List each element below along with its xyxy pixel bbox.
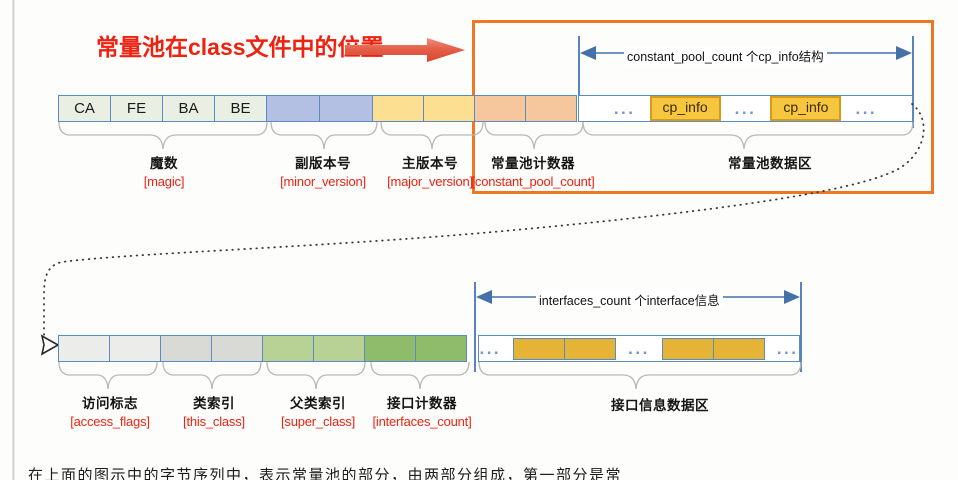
row1-braces (55, 122, 935, 156)
cell-this-class-1 (160, 335, 212, 362)
label-minor-version-cn: 副版本号 (268, 152, 378, 172)
row1-byte-strip: CA FE BA BE (58, 95, 577, 122)
label-access-flags: 访问标志 [access_flags] (55, 392, 165, 429)
ellipsis-dots: ... (479, 340, 501, 357)
label-interface-data: 接口信息数据区 (580, 394, 740, 414)
cp-info-chip-1: cp_info (650, 96, 721, 120)
label-constant-pool-count: 常量池计数器 [constant_pool_count] (470, 152, 596, 189)
cell-major-version-2 (423, 95, 475, 122)
page-gutter-line (12, 0, 15, 480)
row2-braces (55, 362, 815, 396)
ellipsis-dots: ... (735, 100, 757, 117)
ellipsis-dots: ... (614, 100, 636, 117)
cell-access-flags-2 (109, 335, 161, 362)
iface-dim-guide-right (800, 282, 802, 372)
cell-magic-ba: BA (162, 95, 215, 122)
label-interfaces-count: 接口计数器 [interfaces_count] (362, 392, 482, 429)
bottom-body-text: 在上面的图示中的字节序列中，表示常量池的部分，由两部分组成，第一部分是常 (28, 464, 622, 480)
label-magic-en: [magic] (109, 174, 219, 189)
label-constant-pool-count-en: [constant_pool_count] (470, 174, 596, 189)
diagram-canvas: 常量池在class文件中的位置 constant_pool_count 个cp_… (0, 0, 958, 480)
cell-minor-version-1 (266, 95, 320, 122)
cell-super-class-2 (313, 335, 365, 362)
label-interfaces-count-en: [interfaces_count] (362, 414, 482, 429)
cell-major-version-1 (372, 95, 424, 122)
label-minor-version: 副版本号 [minor_version] (268, 152, 378, 189)
label-magic-cn: 魔数 (109, 152, 219, 172)
interface-entry-1 (513, 338, 616, 360)
label-constant-pool-data: 常量池数据区 (690, 152, 850, 172)
cell-super-class-1 (262, 335, 314, 362)
label-constant-pool-data-cn: 常量池数据区 (690, 152, 850, 172)
ellipsis-dots: ... (855, 100, 877, 117)
ellipsis-dots: ... (628, 340, 650, 357)
label-access-flags-en: [access_flags] (55, 414, 165, 429)
cell-constant-pool-count-2 (525, 95, 577, 122)
iface-dimension-label: interfaces_count 个interface信息 (536, 290, 723, 309)
cell-constant-pool-count-1 (474, 95, 526, 122)
page-title: 常量池在class文件中的位置 (96, 28, 384, 62)
cell-minor-version-2 (319, 95, 373, 122)
label-this-class: 类索引 [this_class] (159, 392, 269, 429)
cell-magic-be: BE (214, 95, 267, 122)
cell-magic-ca: CA (58, 95, 111, 122)
cell-magic-fe: FE (110, 95, 163, 122)
cp-dimension-label: constant_pool_count 个cp_info结构 (624, 46, 827, 65)
label-this-class-cn: 类索引 (159, 392, 269, 412)
label-constant-pool-count-cn: 常量池计数器 (470, 152, 596, 172)
interface-data-region: ... ... ... (478, 335, 800, 362)
label-super-class-cn: 父类索引 (263, 392, 373, 412)
cp-info-chip-2: cp_info (770, 96, 841, 120)
interface-entry-2 (662, 338, 765, 360)
cell-access-flags-1 (58, 335, 110, 362)
label-super-class: 父类索引 [super_class] (263, 392, 373, 429)
label-minor-version-en: [minor_version] (268, 174, 378, 189)
row2-byte-strip (58, 335, 467, 362)
red-pointer-arrow (345, 38, 465, 62)
interface-byte-cell (662, 338, 714, 360)
interface-byte-cell (713, 338, 765, 360)
ellipsis-dots: ... (777, 340, 799, 357)
cell-this-class-2 (211, 335, 263, 362)
interface-byte-cell (513, 338, 565, 360)
interface-byte-cell (564, 338, 616, 360)
label-this-class-en: [this_class] (159, 414, 269, 429)
label-magic: 魔数 [magic] (109, 152, 219, 189)
constant-pool-data-region: ... cp_info ... cp_info ... (578, 95, 913, 122)
cell-interfaces-count-1 (364, 335, 416, 362)
label-interface-data-cn: 接口信息数据区 (580, 394, 740, 414)
cell-interfaces-count-2 (415, 335, 467, 362)
label-access-flags-cn: 访问标志 (55, 392, 165, 412)
label-interfaces-count-cn: 接口计数器 (362, 392, 482, 412)
label-super-class-en: [super_class] (263, 414, 373, 429)
